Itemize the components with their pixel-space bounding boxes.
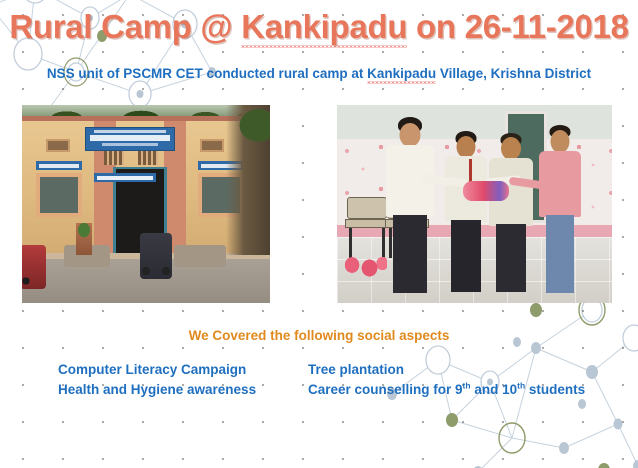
tree-trunk-right [226,105,270,255]
wall-vent-right [200,139,224,152]
aspects-column-right: Tree plantation Career counselling for 9… [308,360,585,400]
photo-school-building[interactable] [22,105,270,303]
stone-bench-right [174,245,226,267]
motorcycle-center [140,233,172,279]
career-sup-9th: th [463,381,471,391]
potted-plant [76,223,92,255]
aspect-career-counselling: Career counselling for 9th and 10th stud… [308,380,585,400]
subtitle-part-misspelled: Kankipadu [367,66,436,84]
side-board-left [36,161,82,170]
gift-package [463,181,509,201]
person-student-recipient [537,123,583,295]
person-staff-lanyard [443,127,489,295]
school-name-board [85,127,175,151]
title-part-1: Rural Camp @ [9,8,241,45]
career-mid: and 10 [471,382,518,397]
career-post: students [525,382,585,397]
subtitle-part-3: Village, Krishna District [436,66,591,81]
window-left [36,173,82,217]
motorcycle-left [22,245,46,289]
title-part-3: on 26-11-2018 [407,8,628,45]
aspect-health-hygiene: Health and Hygiene awareness [58,380,256,400]
person-staff-second [487,129,535,295]
social-aspects-heading: We Covered the following social aspects [0,328,638,343]
red-bags [341,247,387,277]
career-pre: Career counselling for 9 [308,382,463,397]
career-sup-10th: th [517,381,525,391]
subtitle: NSS unit of PSCMR CET conducted rural ca… [0,66,638,81]
aspect-computer-literacy: Computer Literacy Campaign [58,360,256,380]
aspect-tree-plantation: Tree plantation [308,360,585,380]
title-part-misspelled: Kankipadu [241,8,407,48]
hostel-name-plate [94,173,156,182]
person-organiser-white-shirt [383,115,437,295]
subtitle-part-1: NSS unit of PSCMR CET conducted rural ca… [47,66,367,81]
photo-gift-handover[interactable] [337,105,612,303]
wall-vent-left [46,139,70,152]
page-title: Rural Camp @ Kankipadu on 26-11-2018 [0,8,638,46]
slide-canvas: Rural Camp @ Kankipadu on 26-11-2018 NSS… [0,0,638,468]
aspects-column-left: Computer Literacy Campaign Health and Hy… [58,360,256,400]
